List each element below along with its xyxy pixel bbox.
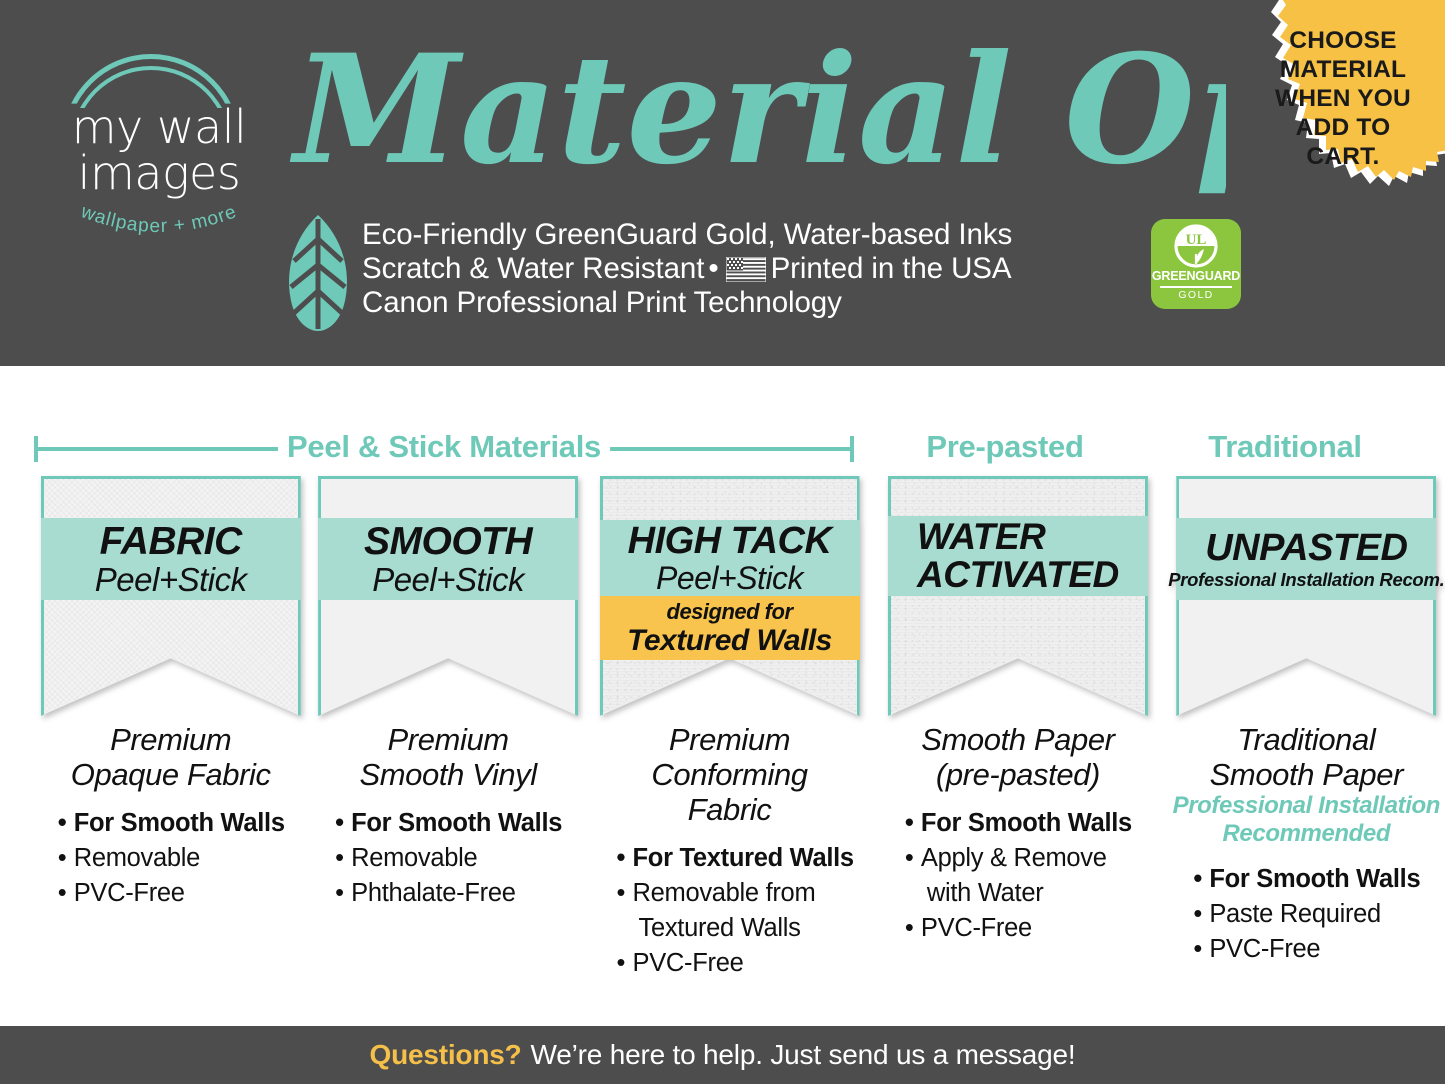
description-line-2: (pre-pasted) (887, 757, 1149, 792)
description-line-2: Conforming (599, 757, 861, 792)
material-card-fabric[interactable]: FABRIC Peel+Stick Premium Opaque Fabric … (32, 476, 309, 981)
usa-flag-icon (726, 256, 766, 281)
greenguard-name: GREENGUARD (1151, 269, 1241, 283)
footer-bar[interactable]: Questions? We’re here to help. Just send… (0, 1026, 1445, 1084)
material-description: Premium Smooth Vinyl (317, 722, 579, 792)
description-line-2: Smooth Vinyl (317, 757, 579, 792)
materials-section: Peel & Stick Materials Pre-pasted Tradit… (0, 366, 1445, 1026)
material-subtitle: Peel+Stick (372, 562, 524, 598)
material-subtitle: Professional Installation Recom. (1168, 568, 1444, 591)
feature-item-text: Apply & Remove (921, 844, 1107, 872)
swatch-label-band: SMOOTH Peel+Stick (318, 518, 578, 600)
feature-item: Removable (58, 841, 302, 876)
logo-line-2: images (34, 150, 284, 196)
group-label-peel-stick: Peel & Stick Materials (278, 424, 610, 470)
logo-line-1: my wall (34, 104, 284, 150)
greenguard-level: GOLD (1151, 289, 1241, 301)
badge-line-1: CHOOSE (1289, 26, 1396, 55)
feature-item: PVC-Free (58, 876, 302, 911)
material-description: Premium Conforming Fabric (599, 722, 861, 827)
material-features: For Smooth Walls Apply & Remove with Wat… (887, 806, 1149, 946)
svg-text:wallpaper + more: wallpaper + more (77, 201, 240, 237)
material-description: Traditional Smooth Paper (1175, 722, 1437, 792)
description-line-2: Smooth Paper (1175, 757, 1437, 792)
feature-item-continuation: Textured Walls (633, 911, 861, 946)
material-name: HIGH TACK (628, 521, 832, 561)
callout-line-2: Textured Walls (627, 625, 832, 657)
feature-item-text: Removable from (633, 879, 816, 907)
feature-line-2: Scratch & Water Resistant• (362, 252, 1012, 286)
bracket-cap-left (34, 436, 38, 462)
page-title: Material Options (286, 12, 1226, 202)
badge-line-3: WHEN YOU (1275, 84, 1411, 113)
swatch-label-band: WATERACTIVATED (888, 516, 1148, 596)
material-name: WATERACTIVATED (917, 518, 1119, 594)
feature-item: For Smooth Walls (905, 806, 1149, 841)
badge-line-4: ADD TO (1296, 113, 1391, 142)
leaf-icon (278, 213, 358, 331)
material-description: Premium Opaque Fabric (40, 722, 302, 792)
group-label-pre-pasted: Pre-pasted (870, 424, 1140, 470)
description-line-2: Opaque Fabric (40, 757, 302, 792)
greenguard-gold-badge: UL GREENGUARD GOLD (1151, 219, 1241, 309)
material-card-smooth[interactable]: SMOOTH Peel+Stick Premium Smooth Vinyl F… (309, 476, 586, 981)
material-card-water-activated[interactable]: WATERACTIVATED Smooth Paper (pre-pasted)… (879, 476, 1156, 981)
feature-item: For Smooth Walls (58, 806, 302, 841)
brand-logo[interactable]: my wall images wallpaper + more (34, 28, 284, 213)
group-label-traditional: Traditional (1150, 424, 1420, 470)
installation-note-line-1: Professional Installation (1171, 792, 1441, 820)
callout-line-1: designed for (667, 599, 793, 625)
swatch-label-band: UNPASTED Professional Installation Recom… (1176, 518, 1436, 600)
feature-item: Paste Required (1193, 897, 1437, 932)
badge-line-5: CART. (1306, 142, 1379, 171)
description-line-3: Fabric (599, 792, 861, 827)
material-description: Smooth Paper (pre-pasted) (887, 722, 1149, 792)
feature-item: For Smooth Walls (335, 806, 579, 841)
material-swatch-fabric[interactable]: FABRIC Peel+Stick (41, 476, 301, 716)
feature-item: For Smooth Walls (1193, 862, 1437, 897)
choose-material-badge: CHOOSE MATERIAL WHEN YOU ADD TO CART. (1231, 0, 1445, 200)
swatch-border (888, 476, 1148, 716)
group-headers: Peel & Stick Materials Pre-pasted Tradit… (0, 424, 1445, 470)
feature-item: PVC-Free (905, 911, 1149, 946)
description-line-1: Premium (599, 722, 861, 757)
feature-item: Apply & Remove with Water (905, 841, 1149, 911)
feature-item-continuation: with Water (921, 876, 1149, 911)
material-swatch-high-tack[interactable]: HIGH TACK Peel+Stick designed for Textur… (600, 476, 860, 716)
feature-line-3: Canon Professional Print Technology (362, 286, 1012, 320)
material-swatch-smooth[interactable]: SMOOTH Peel+Stick (318, 476, 578, 716)
header-banner: my wall images wallpaper + more Material… (0, 0, 1445, 366)
badge-line-2: MATERIAL (1280, 55, 1406, 84)
feature-item: PVC-Free (617, 946, 861, 981)
peel-stick-group-bracket: Peel & Stick Materials (34, 424, 854, 470)
swatch-label-band: HIGH TACK Peel+Stick (600, 520, 860, 596)
footer-message: We’re here to help. Just send us a messa… (531, 1039, 1076, 1071)
material-subtitle: Peel+Stick (656, 561, 803, 596)
material-card-unpasted[interactable]: UNPASTED Professional Installation Recom… (1168, 476, 1445, 981)
feature-separator: • (704, 252, 722, 286)
material-swatch-water-activated[interactable]: WATERACTIVATED (888, 476, 1148, 716)
feature-item: Phthalate-Free (335, 876, 579, 911)
feature-item: For Textured Walls (617, 841, 861, 876)
feature-line-2-b: Printed in the USA (771, 252, 1012, 285)
material-features: For Textured Walls Removable from Textur… (599, 841, 861, 981)
feature-item: PVC-Free (1193, 932, 1437, 967)
description-line-1: Smooth Paper (887, 722, 1149, 757)
swatch-label-band: FABRIC Peel+Stick (41, 518, 301, 600)
footer-highlight: Questions? (370, 1039, 522, 1071)
material-columns: FABRIC Peel+Stick Premium Opaque Fabric … (0, 476, 1445, 981)
material-name: SMOOTH (364, 521, 532, 562)
material-name: UNPASTED (1205, 528, 1407, 568)
textured-walls-callout-band: designed for Textured Walls (600, 596, 860, 660)
description-line-1: Premium (317, 722, 579, 757)
ul-mark-icon: UL (1171, 224, 1221, 268)
ul-mark-text: UL (1186, 232, 1207, 248)
material-features: For Smooth Walls Removable Phthalate-Fre… (317, 806, 579, 911)
feature-line-2-a: Scratch & Water Resistant (362, 252, 704, 285)
feature-item: Removable (335, 841, 579, 876)
feature-line-1: Eco-Friendly GreenGuard Gold, Water-base… (362, 218, 1012, 252)
material-subtitle: Peel+Stick (95, 562, 247, 598)
choose-material-badge-text: CHOOSE MATERIAL WHEN YOU ADD TO CART. (1231, 0, 1445, 200)
logo-tagline: wallpaper + more (48, 196, 270, 242)
description-line-1: Premium (40, 722, 302, 757)
installation-note-line-2: Recommended (1171, 820, 1441, 848)
description-line-1: Traditional (1175, 722, 1437, 757)
material-features: For Smooth Walls Removable PVC-Free (40, 806, 302, 911)
material-features: For Smooth Walls Paste Required PVC-Free (1175, 862, 1437, 967)
material-name: FABRIC (100, 521, 242, 562)
feature-list: Eco-Friendly GreenGuard Gold, Water-base… (362, 218, 1012, 320)
bracket-cap-right (850, 436, 854, 462)
installation-note: Professional Installation Recommended (1171, 792, 1441, 848)
greenguard-divider (1160, 286, 1232, 288)
material-card-high-tack[interactable]: HIGH TACK Peel+Stick designed for Textur… (591, 476, 868, 981)
page-title-text: Material Options (289, 22, 1226, 198)
logo-tagline-text: wallpaper + more (77, 201, 240, 237)
material-swatch-unpasted[interactable]: UNPASTED Professional Installation Recom… (1176, 476, 1436, 716)
feature-item: Removable from Textured Walls (617, 876, 861, 946)
